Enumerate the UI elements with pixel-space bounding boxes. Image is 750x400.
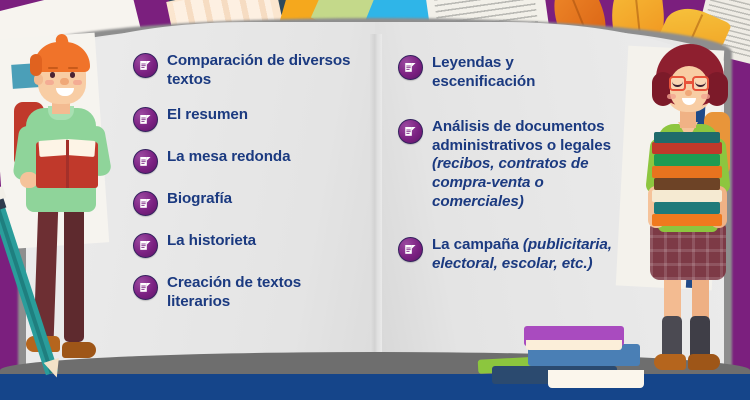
book-gutter — [370, 34, 382, 382]
cheek-left-girl — [667, 94, 676, 99]
left-page-list: Comparación de diversos textos El resume… — [133, 52, 368, 327]
list-item-label: El resumen — [167, 106, 248, 125]
hair-curl-right — [706, 72, 728, 106]
writing-page-icon — [133, 275, 158, 300]
held-book-orange-2 — [652, 166, 722, 178]
eyebrow-right — [68, 67, 78, 69]
held-book-orange — [652, 214, 722, 226]
shoe-right — [62, 342, 96, 358]
held-book-cream — [652, 190, 722, 202]
poster-canvas: Comparación de diversos textos El resume… — [0, 0, 750, 400]
writing-page-icon — [133, 53, 158, 78]
girl-with-book-stack — [638, 28, 750, 400]
nose — [60, 78, 69, 85]
eye-left — [50, 72, 55, 78]
writing-page-icon — [133, 191, 158, 216]
red-book-spine — [66, 140, 69, 188]
glasses-bridge — [686, 81, 692, 84]
red-book-pages-right — [66, 139, 95, 157]
list-item[interactable]: Comparación de diversos textos — [133, 52, 368, 90]
writing-page-icon — [398, 55, 423, 80]
shoe-left-girl — [654, 354, 686, 370]
leg-right — [64, 202, 84, 342]
list-item-main-text: Análisis de documentos administrativos o… — [432, 118, 611, 154]
list-item[interactable]: Biografía — [133, 190, 368, 216]
eye-right — [70, 72, 75, 78]
writing-page-icon — [398, 237, 423, 262]
held-book-teal-2 — [654, 132, 720, 143]
held-book-teal — [654, 202, 720, 214]
list-item-label: Leyendas y escenificación — [432, 54, 582, 92]
list-item-label: La historieta — [167, 232, 256, 251]
list-item[interactable]: La mesa redonda — [133, 148, 368, 174]
list-item-italic-note: (recibos, contratos de compra-venta o co… — [432, 155, 590, 212]
list-item[interactable]: Leyendas y escenificación — [398, 54, 660, 92]
list-item[interactable]: El resumen — [133, 106, 368, 132]
list-item-main-text: La campaña — [432, 236, 523, 253]
writing-page-icon — [398, 119, 423, 144]
list-item-label: La mesa redonda — [167, 148, 290, 167]
book-purple-pages — [526, 340, 622, 350]
held-book-green — [654, 154, 720, 166]
held-book-red — [652, 142, 722, 154]
cheek-right — [73, 80, 82, 85]
list-item[interactable]: La historieta — [133, 232, 368, 258]
held-book-brown — [654, 178, 720, 190]
writing-page-icon — [133, 233, 158, 258]
hair-side — [30, 54, 42, 76]
boy-reading-book — [2, 30, 122, 400]
writing-page-icon — [133, 107, 158, 132]
cheek-right-girl — [701, 94, 710, 99]
list-item-label: Comparación de diversos textos — [167, 52, 368, 90]
pencil-tip — [44, 358, 65, 380]
neck-girl — [680, 110, 696, 128]
red-book-pages-left — [38, 139, 67, 157]
list-item-label: Biografía — [167, 190, 232, 209]
writing-page-icon — [133, 149, 158, 174]
nose-girl — [685, 90, 692, 96]
cheek-left — [45, 80, 54, 85]
list-item-label: Creación de textos literarios — [167, 274, 368, 312]
skirt-plaid — [650, 224, 726, 280]
shoe-right-girl — [688, 354, 720, 370]
book-white-pages — [548, 370, 644, 388]
list-item[interactable]: Creación de textos literarios — [133, 274, 368, 312]
eyebrow-left — [48, 67, 58, 69]
